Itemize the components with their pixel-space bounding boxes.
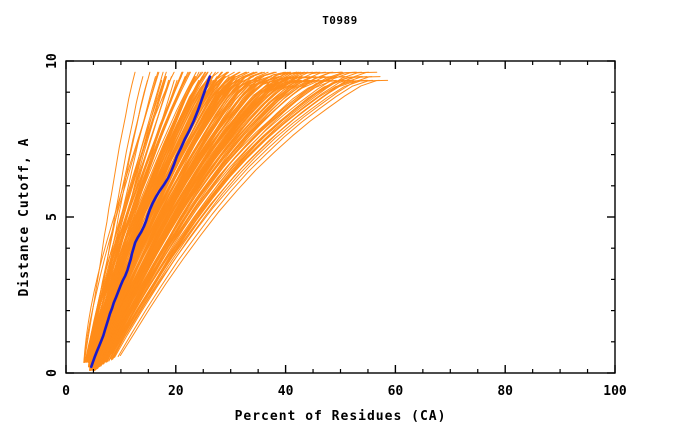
x-tick-label: 0 xyxy=(62,384,70,399)
x-tick-label: 40 xyxy=(278,384,294,399)
y-tick-label: 0 xyxy=(45,369,60,377)
y-tick-label: 5 xyxy=(45,213,60,221)
x-tick-label: 80 xyxy=(497,384,513,399)
x-axis-title: Percent of Residues (CA) xyxy=(235,409,447,424)
x-tick-label: 60 xyxy=(388,384,404,399)
chart-canvas: T0989 0204060801000510Percent of Residue… xyxy=(0,0,680,440)
plot-area: 0204060801000510Percent of Residues (CA)… xyxy=(0,0,680,440)
y-axis-title: Distance Cutoff, A xyxy=(17,138,32,297)
y-tick-label: 10 xyxy=(45,53,60,69)
x-tick-label: 100 xyxy=(603,384,627,399)
axis-labels-layer: 0204060801000510Percent of Residues (CA)… xyxy=(17,53,627,424)
x-tick-label: 20 xyxy=(168,384,184,399)
series-layer xyxy=(84,72,388,370)
